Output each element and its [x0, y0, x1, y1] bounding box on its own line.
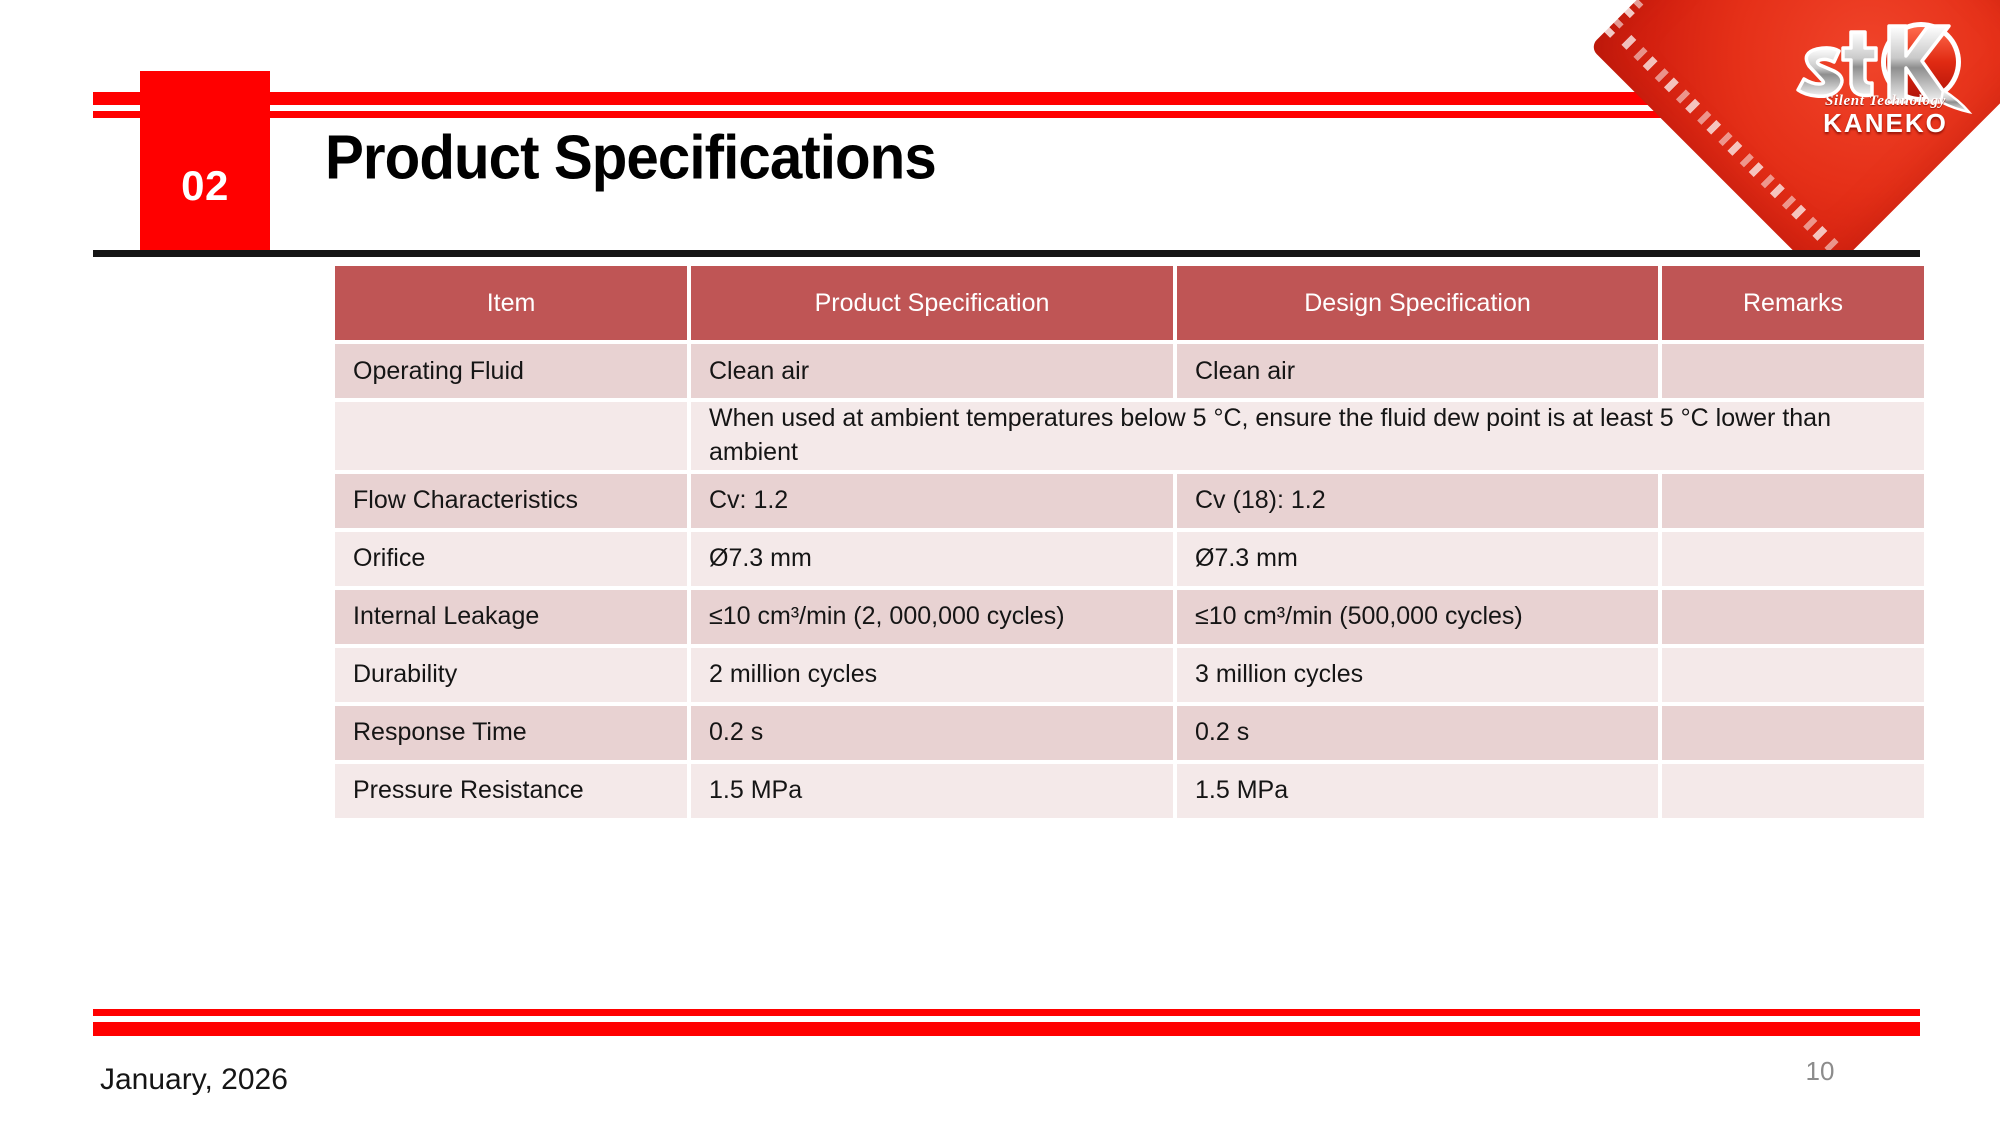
specifications-table: Item Product Specification Design Specif…: [331, 262, 1928, 822]
cell-item: Durability: [335, 648, 687, 702]
cell-item: Pressure Resistance: [335, 764, 687, 818]
footer-rule-thick: [93, 1022, 1920, 1036]
cell-design: Clean air: [1177, 344, 1658, 398]
table-row-note: When used at ambient temperatures below …: [335, 402, 1924, 470]
logo-brush-diamond: [1590, 0, 2000, 250]
company-logo: Silent Technology KANEKO: [1580, 0, 2000, 250]
cell-item: Orifice: [335, 532, 687, 586]
cell-remarks: [1662, 590, 1924, 644]
cell-design: 1.5 MPa: [1177, 764, 1658, 818]
cell-product: Clean air: [691, 344, 1173, 398]
cell-design: Cv (18): 1.2: [1177, 474, 1658, 528]
table-row: Internal Leakage ≤10 cm³/min (2, 000,000…: [335, 590, 1924, 644]
cell-product: ≤10 cm³/min (2, 000,000 cycles): [691, 590, 1173, 644]
page-title: Product Specifications: [325, 123, 936, 194]
column-header-product: Product Specification: [691, 266, 1173, 340]
cell-remarks: [1662, 532, 1924, 586]
cell-design: 0.2 s: [1177, 706, 1658, 760]
table-row: Pressure Resistance 1.5 MPa 1.5 MPa: [335, 764, 1924, 818]
cell-item: Operating Fluid: [335, 344, 687, 398]
header-rule-thick: [93, 92, 1920, 105]
section-number-badge: 02: [140, 71, 270, 252]
section-number: 02: [181, 165, 229, 207]
cell-product: 2 million cycles: [691, 648, 1173, 702]
cell-note-merged: When used at ambient temperatures below …: [691, 402, 1924, 470]
cell-remarks: [1662, 344, 1924, 398]
cell-item: Internal Leakage: [335, 590, 687, 644]
cell-remarks: [1662, 474, 1924, 528]
footer-rule-thin: [93, 1009, 1920, 1016]
cell-design: Ø7.3 mm: [1177, 532, 1658, 586]
table-row: Orifice Ø7.3 mm Ø7.3 mm: [335, 532, 1924, 586]
column-header-remarks: Remarks: [1662, 266, 1924, 340]
table-row: Flow Characteristics Cv: 1.2 Cv (18): 1.…: [335, 474, 1924, 528]
page-number: 10: [1790, 1056, 1850, 1087]
stk-logo-icon: [1793, 18, 1983, 138]
table-row: Operating Fluid Clean air Clean air: [335, 344, 1924, 398]
header-rule-thin: [93, 111, 1920, 118]
cell-item: [335, 402, 687, 470]
cell-item: Flow Characteristics: [335, 474, 687, 528]
column-header-item: Item: [335, 266, 687, 340]
table-header-row: Item Product Specification Design Specif…: [335, 266, 1924, 340]
cell-remarks: [1662, 648, 1924, 702]
cell-item: Response Time: [335, 706, 687, 760]
footer-date: January, 2026: [100, 1063, 288, 1097]
table-row: Response Time 0.2 s 0.2 s: [335, 706, 1924, 760]
cell-product: Cv: 1.2: [691, 474, 1173, 528]
table-row: Durability 2 million cycles 3 million cy…: [335, 648, 1924, 702]
cell-design: ≤10 cm³/min (500,000 cycles): [1177, 590, 1658, 644]
cell-product: 0.2 s: [691, 706, 1173, 760]
column-header-design: Design Specification: [1177, 266, 1658, 340]
cell-product: Ø7.3 mm: [691, 532, 1173, 586]
cell-product: 1.5 MPa: [691, 764, 1173, 818]
cell-remarks: [1662, 764, 1924, 818]
header-rule-black: [93, 250, 1920, 257]
cell-remarks: [1662, 706, 1924, 760]
cell-design: 3 million cycles: [1177, 648, 1658, 702]
